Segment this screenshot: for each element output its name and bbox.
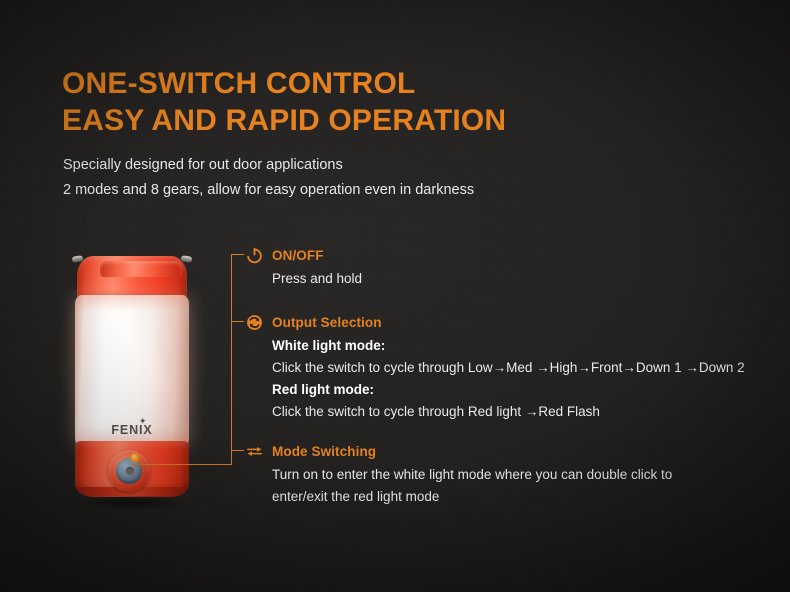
feature-output-title: Output Selection [272, 315, 382, 330]
feature-onoff-body: Press and hold [272, 268, 362, 290]
feature-mode-header: Mode Switching [246, 442, 672, 460]
feature-mode-title: Mode Switching [272, 444, 376, 459]
feature-onoff-line-1: Press and hold [272, 268, 362, 290]
feature-mode-body: Turn on to enter the white light mode wh… [272, 464, 672, 508]
feature-output-line-2: Click the switch to cycle through Low→Me… [272, 357, 745, 379]
feature-mode-switching: Mode Switching Turn on to enter the whit… [246, 442, 672, 508]
feature-onoff-title: ON/OFF [272, 248, 324, 263]
cycle-icon [246, 314, 263, 331]
feature-output-body: White light mode: Click the switch to cy… [272, 335, 745, 423]
feature-output-line-3: Red light mode: [272, 379, 745, 401]
feature-output-header: Output Selection [246, 313, 745, 331]
feature-mode-line-1: Turn on to enter the white light mode wh… [272, 464, 672, 486]
feature-onoff: ON/OFF Press and hold [246, 246, 362, 290]
promo-banner: ONE-SWITCH CONTROL EASY AND RAPID OPERAT… [0, 0, 790, 592]
power-icon [246, 247, 263, 264]
feature-onoff-header: ON/OFF [246, 246, 362, 264]
feature-mode-line-2: enter/exit the red light mode [272, 486, 672, 508]
swap-arrows-icon [246, 443, 263, 460]
feature-output-line-4: Click the switch to cycle through Red li… [272, 401, 745, 423]
feature-output-selection: Output Selection White light mode: Click… [246, 313, 745, 423]
feature-output-line-1: White light mode: [272, 335, 745, 357]
